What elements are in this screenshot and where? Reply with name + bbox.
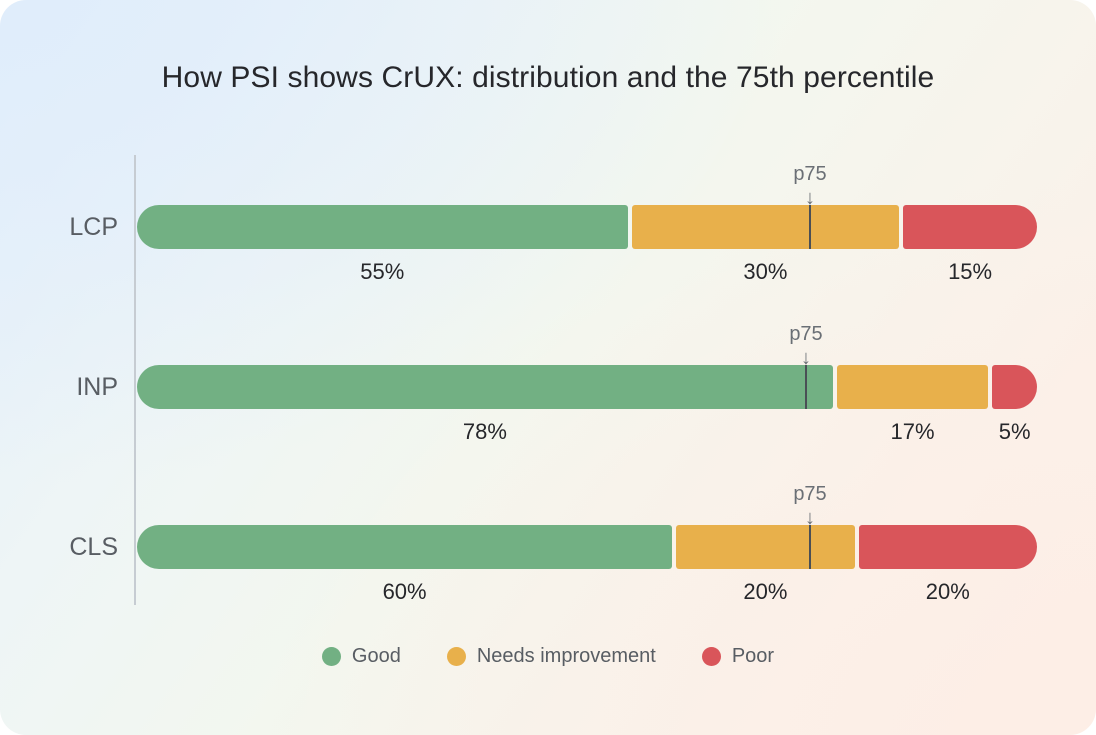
legend-label-poor: Poor: [732, 645, 774, 668]
bar-row-inp: INP78%17%5%p75↓: [0, 315, 1096, 465]
bar-segment-value-good: 55%: [360, 259, 404, 285]
chart-canvas: How PSI shows CrUX: distribution and the…: [0, 0, 1096, 735]
p75-marker-label: p75: [789, 323, 822, 346]
bar-segment-value-needs-improvement: 17%: [891, 419, 935, 445]
bar-segment-poor[interactable]: [859, 525, 1037, 569]
plot-area: LCP55%30%15%p75↓INP78%17%5%p75↓CLS60%20%…: [0, 0, 1096, 735]
p75-marker-label: p75: [793, 483, 826, 506]
bar-row-cls: CLS60%20%20%p75↓: [0, 475, 1096, 625]
legend-item-needs-improvement[interactable]: Needs improvement: [447, 645, 656, 668]
legend-item-good[interactable]: Good: [322, 645, 401, 668]
row-label-inp: INP: [0, 365, 118, 409]
legend-swatch-poor: [702, 647, 721, 666]
bar-segment-good[interactable]: [137, 525, 672, 569]
bar-segment-value-poor: 20%: [926, 579, 970, 605]
bar-segment-good[interactable]: [137, 205, 628, 249]
bar-segment-value-poor: 5%: [999, 419, 1031, 445]
bar-segment-value-good: 60%: [383, 579, 427, 605]
bar-segment-good[interactable]: [137, 365, 833, 409]
bar-track: 60%20%20%p75↓: [137, 525, 1037, 569]
bar-segment-value-needs-improvement: 30%: [743, 259, 787, 285]
bar-segment-value-poor: 15%: [948, 259, 992, 285]
legend-swatch-good: [322, 647, 341, 666]
row-label-lcp: LCP: [0, 205, 118, 249]
chart-legend: GoodNeeds improvementPoor: [0, 645, 1096, 668]
bar-segment-poor[interactable]: [903, 205, 1037, 249]
bar-segment-needs-improvement[interactable]: [676, 525, 854, 569]
legend-swatch-needs-improvement: [447, 647, 466, 666]
legend-item-poor[interactable]: Poor: [702, 645, 774, 668]
bar-row-lcp: LCP55%30%15%p75↓: [0, 155, 1096, 305]
p75-marker-label: p75: [793, 163, 826, 186]
bar-track: 78%17%5%p75↓: [137, 365, 1037, 409]
row-label-cls: CLS: [0, 525, 118, 569]
bar-segment-poor[interactable]: [992, 365, 1037, 409]
bar-segment-needs-improvement[interactable]: [837, 365, 989, 409]
legend-label-needs-improvement: Needs improvement: [477, 645, 656, 668]
bar-segment-value-good: 78%: [463, 419, 507, 445]
bar-segment-value-needs-improvement: 20%: [743, 579, 787, 605]
legend-label-good: Good: [352, 645, 401, 668]
bar-track: 55%30%15%p75↓: [137, 205, 1037, 249]
bar-segment-needs-improvement[interactable]: [632, 205, 900, 249]
